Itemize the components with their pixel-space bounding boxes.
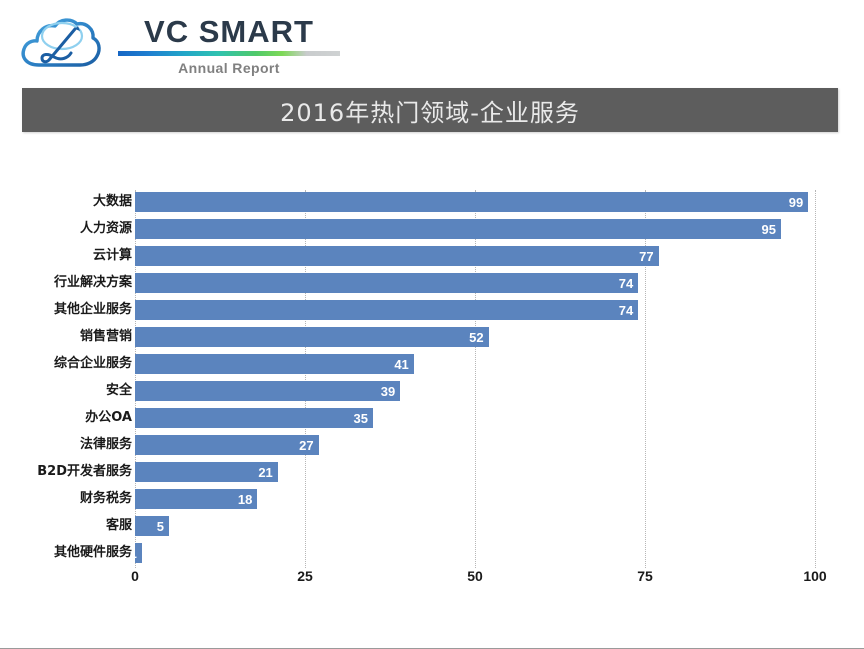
category-label: 其他硬件服务 [54,541,132,568]
category-label: 财务税务 [80,487,132,514]
category-label: 其他企业服务 [54,298,132,325]
bar[interactable]: 35 [135,408,373,428]
chart-row: 客服5 [135,514,815,541]
bar-value-label: 21 [258,465,277,480]
x-axis-tick: 0 [131,568,139,584]
category-label: 客服 [106,514,132,541]
chart-row: 法律服务27 [135,433,815,460]
brand-name: VC SMART [118,14,340,50]
bar-value-label: 74 [619,276,638,291]
category-label: 人力资源 [80,217,132,244]
chart-row: 人力资源95 [135,217,815,244]
slide-title-band: 2016年热门领域-企业服务 [22,88,838,132]
chart-row: 大数据99 [135,190,815,217]
bar[interactable]: 18 [135,489,257,509]
chart-plot-area: 大数据99人力资源95云计算77行业解决方案74其他企业服务74销售营销52综合… [135,190,815,568]
brand-gradient-rule [118,51,340,56]
bar[interactable]: 5 [135,516,169,536]
x-axis-tick: 50 [467,568,483,584]
chart-row: 其他硬件服务1 [135,541,815,568]
bar-value-label: 77 [639,249,658,264]
bar[interactable]: 21 [135,462,278,482]
gridline [815,190,816,568]
chart-row: 销售营销52 [135,325,815,352]
bar[interactable]: 74 [135,273,638,293]
chart-bar-rows: 大数据99人力资源95云计算77行业解决方案74其他企业服务74销售营销52综合… [135,190,815,568]
page-title: 2016年热门领域-企业服务 [280,93,580,128]
category-label: 综合企业服务 [54,352,132,379]
chart-row: 办公OA35 [135,406,815,433]
bar-value-label: 27 [299,438,318,453]
bar[interactable]: 95 [135,219,781,239]
bar[interactable]: 39 [135,381,400,401]
slide-root: VC SMART Annual Report 2016年热门领域-企业服务 大数… [0,0,864,649]
chart-row: B2D开发者服务21 [135,460,815,487]
bar-value-label: 1 [135,546,142,561]
bar-value-label: 52 [469,330,488,345]
bar-value-label: 35 [354,411,373,426]
category-label: 安全 [106,379,132,406]
bar-chart: 大数据99人力资源95云计算77行业解决方案74其他企业服务74销售营销52综合… [0,175,864,595]
chart-row: 综合企业服务41 [135,352,815,379]
category-label: 办公OA [85,406,132,433]
x-axis-tick: 100 [803,568,826,584]
chart-x-axis: 0255075100 [135,568,815,594]
chart-row: 云计算77 [135,244,815,271]
bar-value-label: 99 [789,195,808,210]
brand-subtitle: Annual Report [118,60,340,76]
bar[interactable]: 41 [135,354,414,374]
chart-row: 安全39 [135,379,815,406]
chart-row: 财务税务18 [135,487,815,514]
bar-value-label: 74 [619,303,638,318]
bar[interactable]: 77 [135,246,659,266]
category-label: 大数据 [93,190,132,217]
category-label: 法律服务 [80,433,132,460]
bar-value-label: 39 [381,384,400,399]
slide-header: VC SMART Annual Report [0,0,864,86]
bar[interactable]: 1 [135,543,142,563]
bar[interactable]: 27 [135,435,319,455]
bar-value-label: 95 [762,222,781,237]
x-axis-tick: 25 [297,568,313,584]
brand-block: VC SMART Annual Report [118,14,340,76]
bar-value-label: 18 [238,492,257,507]
bar[interactable]: 74 [135,300,638,320]
bar-value-label: 41 [394,357,413,372]
category-label: B2D开发者服务 [37,460,132,487]
chart-row: 行业解决方案74 [135,271,815,298]
cloud-pen-logo-icon [18,13,102,75]
x-axis-tick: 75 [637,568,653,584]
bar[interactable]: 99 [135,192,808,212]
bar[interactable]: 52 [135,327,489,347]
bar-value-label: 5 [157,519,169,534]
chart-row: 其他企业服务74 [135,298,815,325]
category-label: 销售营销 [80,325,132,352]
category-label: 云计算 [93,244,132,271]
category-label: 行业解决方案 [54,271,132,298]
